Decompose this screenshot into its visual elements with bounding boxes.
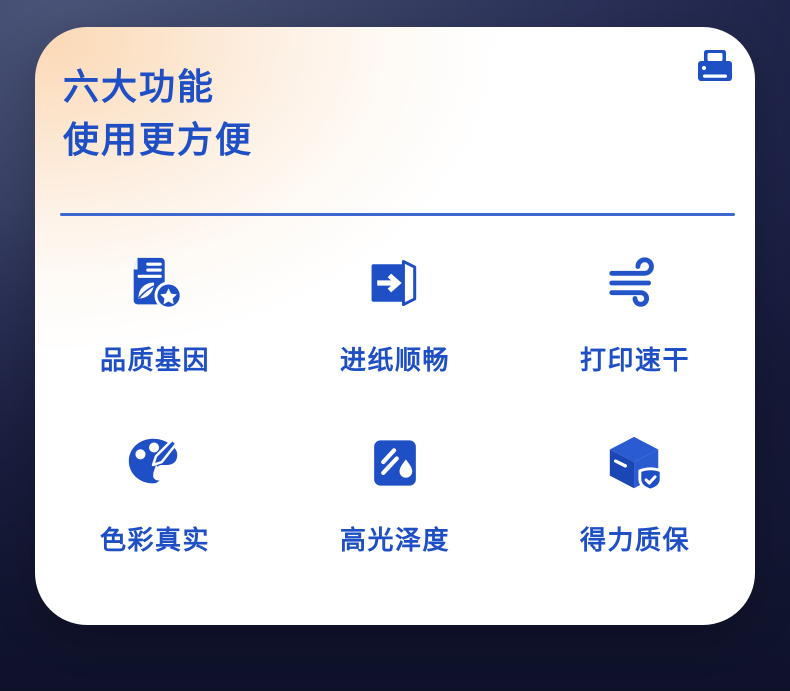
page-title-line-1: 六大功能 xyxy=(63,60,735,113)
feature-label: 高光泽度 xyxy=(340,520,450,557)
feature-label: 得力质保 xyxy=(580,520,690,557)
feature-item-glossiness: 高光泽度 xyxy=(275,412,515,592)
package-shield-warranty-icon xyxy=(602,430,668,496)
card-header: 六大功能 使用更方便 xyxy=(63,60,735,166)
feature-card-inner: 六大功能 使用更方便 xyxy=(35,27,755,625)
wind-quick-dry-icon xyxy=(602,250,668,316)
quality-certificate-leaf-icon xyxy=(122,250,188,316)
promo-page: 六大功能 使用更方便 xyxy=(0,0,790,691)
features-grid: 品质基因 进纸顺畅 xyxy=(35,232,755,592)
color-palette-brush-icon xyxy=(122,430,188,496)
header-divider xyxy=(60,213,735,216)
feature-item-quality: 品质基因 xyxy=(35,232,275,412)
feature-label: 进纸顺畅 xyxy=(340,340,450,377)
feature-card: 六大功能 使用更方便 xyxy=(35,27,755,625)
paper-feed-arrow-icon xyxy=(362,250,428,316)
feature-item-quick-dry: 打印速干 xyxy=(515,232,755,412)
glossy-sheen-droplet-icon xyxy=(362,430,428,496)
feature-item-true-color: 色彩真实 xyxy=(35,412,275,592)
page-title-line-2: 使用更方便 xyxy=(63,113,735,166)
feature-label: 色彩真实 xyxy=(100,520,210,557)
feature-label: 品质基因 xyxy=(100,340,210,377)
feature-item-warranty: 得力质保 xyxy=(515,412,755,592)
printer-icon xyxy=(693,47,737,91)
feature-label: 打印速干 xyxy=(580,340,690,377)
feature-item-paper-feed: 进纸顺畅 xyxy=(275,232,515,412)
